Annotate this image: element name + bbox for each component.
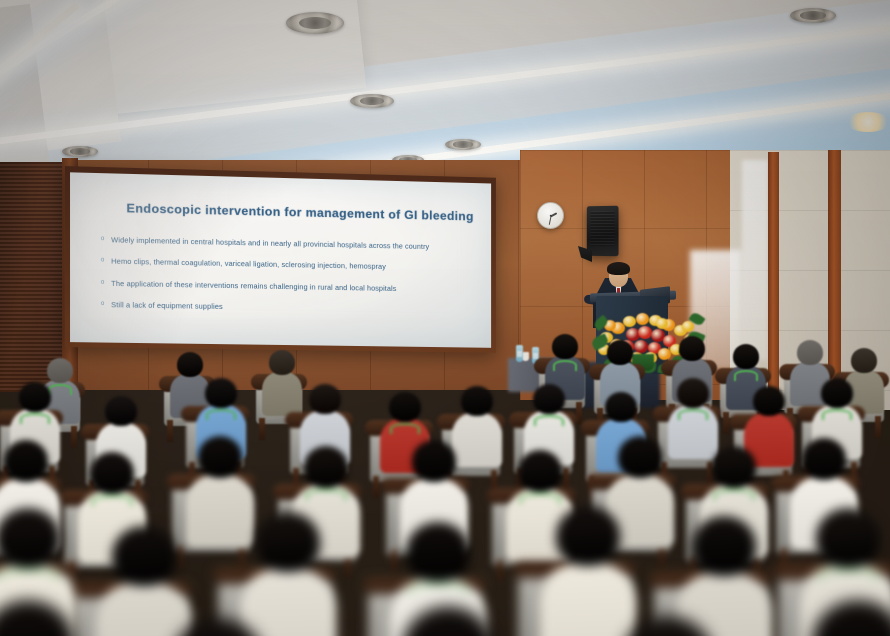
attendee-head bbox=[518, 450, 562, 492]
attendee bbox=[380, 606, 516, 636]
downlight-icon bbox=[846, 112, 890, 132]
wall-speaker-icon bbox=[587, 206, 619, 257]
lanyard bbox=[306, 489, 347, 500]
slide-bullet-text: The application of these interventions r… bbox=[111, 277, 477, 295]
attendee-head bbox=[677, 378, 709, 408]
attendee-head bbox=[797, 340, 823, 365]
lanyard bbox=[520, 493, 561, 504]
slide-bullet: o Widely implemented in central hospital… bbox=[101, 234, 478, 254]
chair-leg bbox=[576, 402, 582, 424]
chair-leg bbox=[259, 418, 265, 440]
slide-bullet-text: Widely implemented in central hospitals … bbox=[111, 234, 477, 254]
attendee-head bbox=[402, 606, 494, 636]
lanyard bbox=[20, 413, 50, 424]
attendee-head bbox=[0, 600, 74, 636]
attendee-head bbox=[605, 392, 637, 422]
attendee-head bbox=[733, 344, 759, 369]
attendee-head bbox=[0, 508, 60, 568]
attendee-head bbox=[4, 440, 48, 482]
attendee-head bbox=[802, 438, 846, 480]
chair-leg bbox=[71, 426, 77, 448]
attendee-head bbox=[47, 358, 73, 383]
attendee-head bbox=[19, 382, 51, 412]
lanyard bbox=[714, 489, 755, 500]
chair-leg bbox=[723, 412, 729, 434]
attendee-head bbox=[679, 336, 705, 361]
air-vent-icon bbox=[62, 146, 98, 157]
lanyard bbox=[553, 360, 577, 371]
clock-minute-hand bbox=[548, 215, 551, 224]
attendee-head bbox=[269, 350, 295, 375]
lanyard bbox=[534, 415, 564, 426]
slide-bullet: o The application of these interventions… bbox=[101, 277, 478, 296]
audience bbox=[0, 300, 890, 636]
lanyard bbox=[206, 409, 236, 420]
attendee-head bbox=[406, 522, 470, 582]
lanyard bbox=[819, 569, 877, 580]
attendee-head bbox=[461, 386, 493, 416]
lanyard bbox=[822, 409, 852, 420]
attendee bbox=[790, 600, 890, 636]
bullet-marker-icon: o bbox=[101, 277, 111, 289]
conference-photo: Endoscopic intervention for management o… bbox=[0, 0, 890, 636]
attendee-head bbox=[851, 348, 877, 373]
attendee-head bbox=[821, 378, 853, 408]
attendee-head bbox=[692, 516, 756, 576]
attendee bbox=[600, 616, 736, 636]
lanyard bbox=[678, 409, 708, 420]
chair-leg bbox=[875, 416, 881, 438]
wall-clock bbox=[537, 202, 564, 229]
chair-leg bbox=[373, 476, 379, 498]
slide-title: Endoscopic intervention for management o… bbox=[126, 201, 473, 223]
attendee-head bbox=[533, 384, 565, 414]
attendee-head bbox=[607, 340, 633, 365]
attendee bbox=[262, 350, 302, 419]
slide-bullet-text: Hemo clips, thermal coagulation, varicea… bbox=[111, 256, 477, 275]
speaker-hair bbox=[607, 262, 630, 275]
attendee-head bbox=[205, 378, 237, 408]
lanyard bbox=[390, 423, 420, 434]
attendee-head bbox=[309, 384, 341, 414]
attendee-head bbox=[816, 508, 880, 568]
air-vent-icon bbox=[286, 12, 344, 34]
bullet-marker-icon: o bbox=[101, 256, 111, 268]
lanyard bbox=[0, 569, 57, 580]
lanyard bbox=[92, 495, 133, 506]
attendee-head bbox=[112, 526, 176, 586]
attendee-head bbox=[389, 392, 421, 422]
chair-leg bbox=[497, 560, 503, 582]
bullet-marker-icon: o bbox=[101, 234, 111, 246]
attendee-head bbox=[618, 436, 662, 478]
attendee-head bbox=[172, 618, 264, 636]
lanyard bbox=[734, 370, 758, 381]
attendee-head bbox=[256, 512, 320, 572]
lanyard bbox=[409, 583, 467, 594]
attendee-head bbox=[177, 352, 203, 377]
attendee-head bbox=[622, 616, 714, 636]
attendee-head bbox=[412, 440, 456, 482]
air-vent-icon bbox=[790, 8, 836, 23]
attendee-head bbox=[552, 334, 578, 359]
attendee-head bbox=[304, 446, 348, 488]
slide-bullet: o Hemo clips, thermal coagulation, varic… bbox=[101, 256, 478, 275]
attendee-head bbox=[712, 446, 756, 488]
attendee-body bbox=[262, 372, 302, 416]
attendee-head bbox=[105, 396, 137, 426]
attendee bbox=[150, 618, 286, 636]
air-vent-icon bbox=[445, 139, 481, 150]
attendee-head bbox=[812, 600, 890, 636]
air-vent-icon bbox=[350, 94, 394, 108]
attendee bbox=[0, 600, 96, 636]
attendee-head bbox=[556, 506, 620, 566]
attendee-head bbox=[90, 452, 134, 494]
attendee-head bbox=[198, 436, 242, 478]
chair-leg bbox=[167, 420, 173, 442]
attendee-head bbox=[753, 386, 785, 416]
